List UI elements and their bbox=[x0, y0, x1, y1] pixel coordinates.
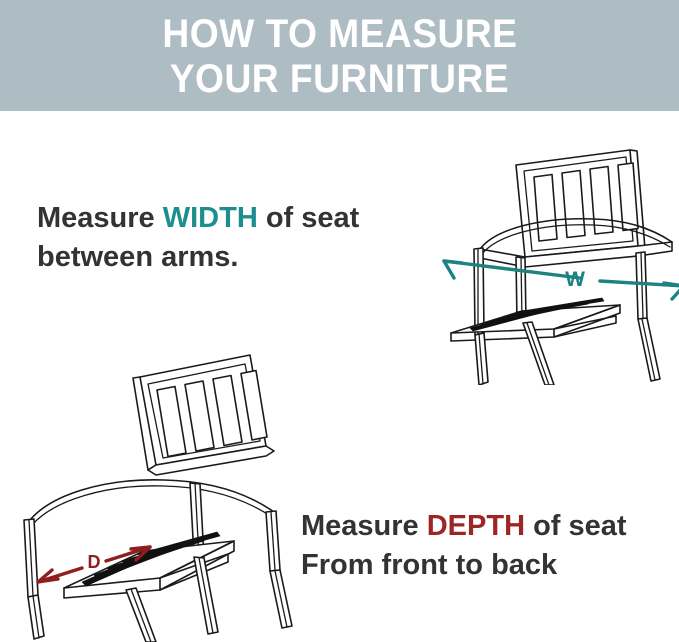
chair-back-slat-1 bbox=[534, 175, 557, 242]
width-dimension-label: W bbox=[565, 268, 585, 291]
width-instruction-line-2: between arms. bbox=[37, 238, 359, 277]
width-line1-suffix: of seat bbox=[258, 202, 360, 234]
width-keyword: WIDTH bbox=[163, 202, 258, 234]
depth-keyword: DEPTH bbox=[427, 510, 525, 542]
depth-line1-suffix: of seat bbox=[525, 510, 627, 542]
chair-back-slat-2 bbox=[562, 171, 585, 238]
header-banner: HOW TO MEASURE YOUR FURNITURE bbox=[0, 0, 679, 111]
width-line1-prefix: Measure bbox=[37, 202, 163, 234]
header-title-line-2: YOUR FURNITURE bbox=[170, 57, 509, 102]
chair-back-slat-3 bbox=[590, 167, 613, 235]
chair2-centre-angled-leg-edge bbox=[131, 589, 151, 642]
width-instruction-line-1: Measure WIDTH of seat bbox=[37, 199, 359, 238]
width-chair-illustration: W bbox=[404, 133, 679, 385]
chair-front-right-leg-edge bbox=[527, 323, 549, 385]
depth-instruction-line-2: From front to back bbox=[301, 546, 627, 585]
depth-dimension-label: D bbox=[88, 552, 101, 572]
depth-instruction-text: Measure DEPTH of seat From front to back bbox=[301, 507, 627, 585]
depth-chair-illustration: D bbox=[22, 320, 302, 642]
depth-instruction-line-1: Measure DEPTH of seat bbox=[301, 507, 627, 546]
width-instruction-text: Measure WIDTH of seat between arms. bbox=[37, 199, 359, 277]
chair-left-arm-post bbox=[474, 248, 484, 335]
depth-line1-prefix: Measure bbox=[301, 510, 427, 542]
infographic-page: HOW TO MEASURE YOUR FURNITURE Measure WI… bbox=[0, 0, 679, 642]
header-title-line-1: HOW TO MEASURE bbox=[162, 12, 517, 57]
width-arrow-head-left bbox=[444, 261, 462, 278]
